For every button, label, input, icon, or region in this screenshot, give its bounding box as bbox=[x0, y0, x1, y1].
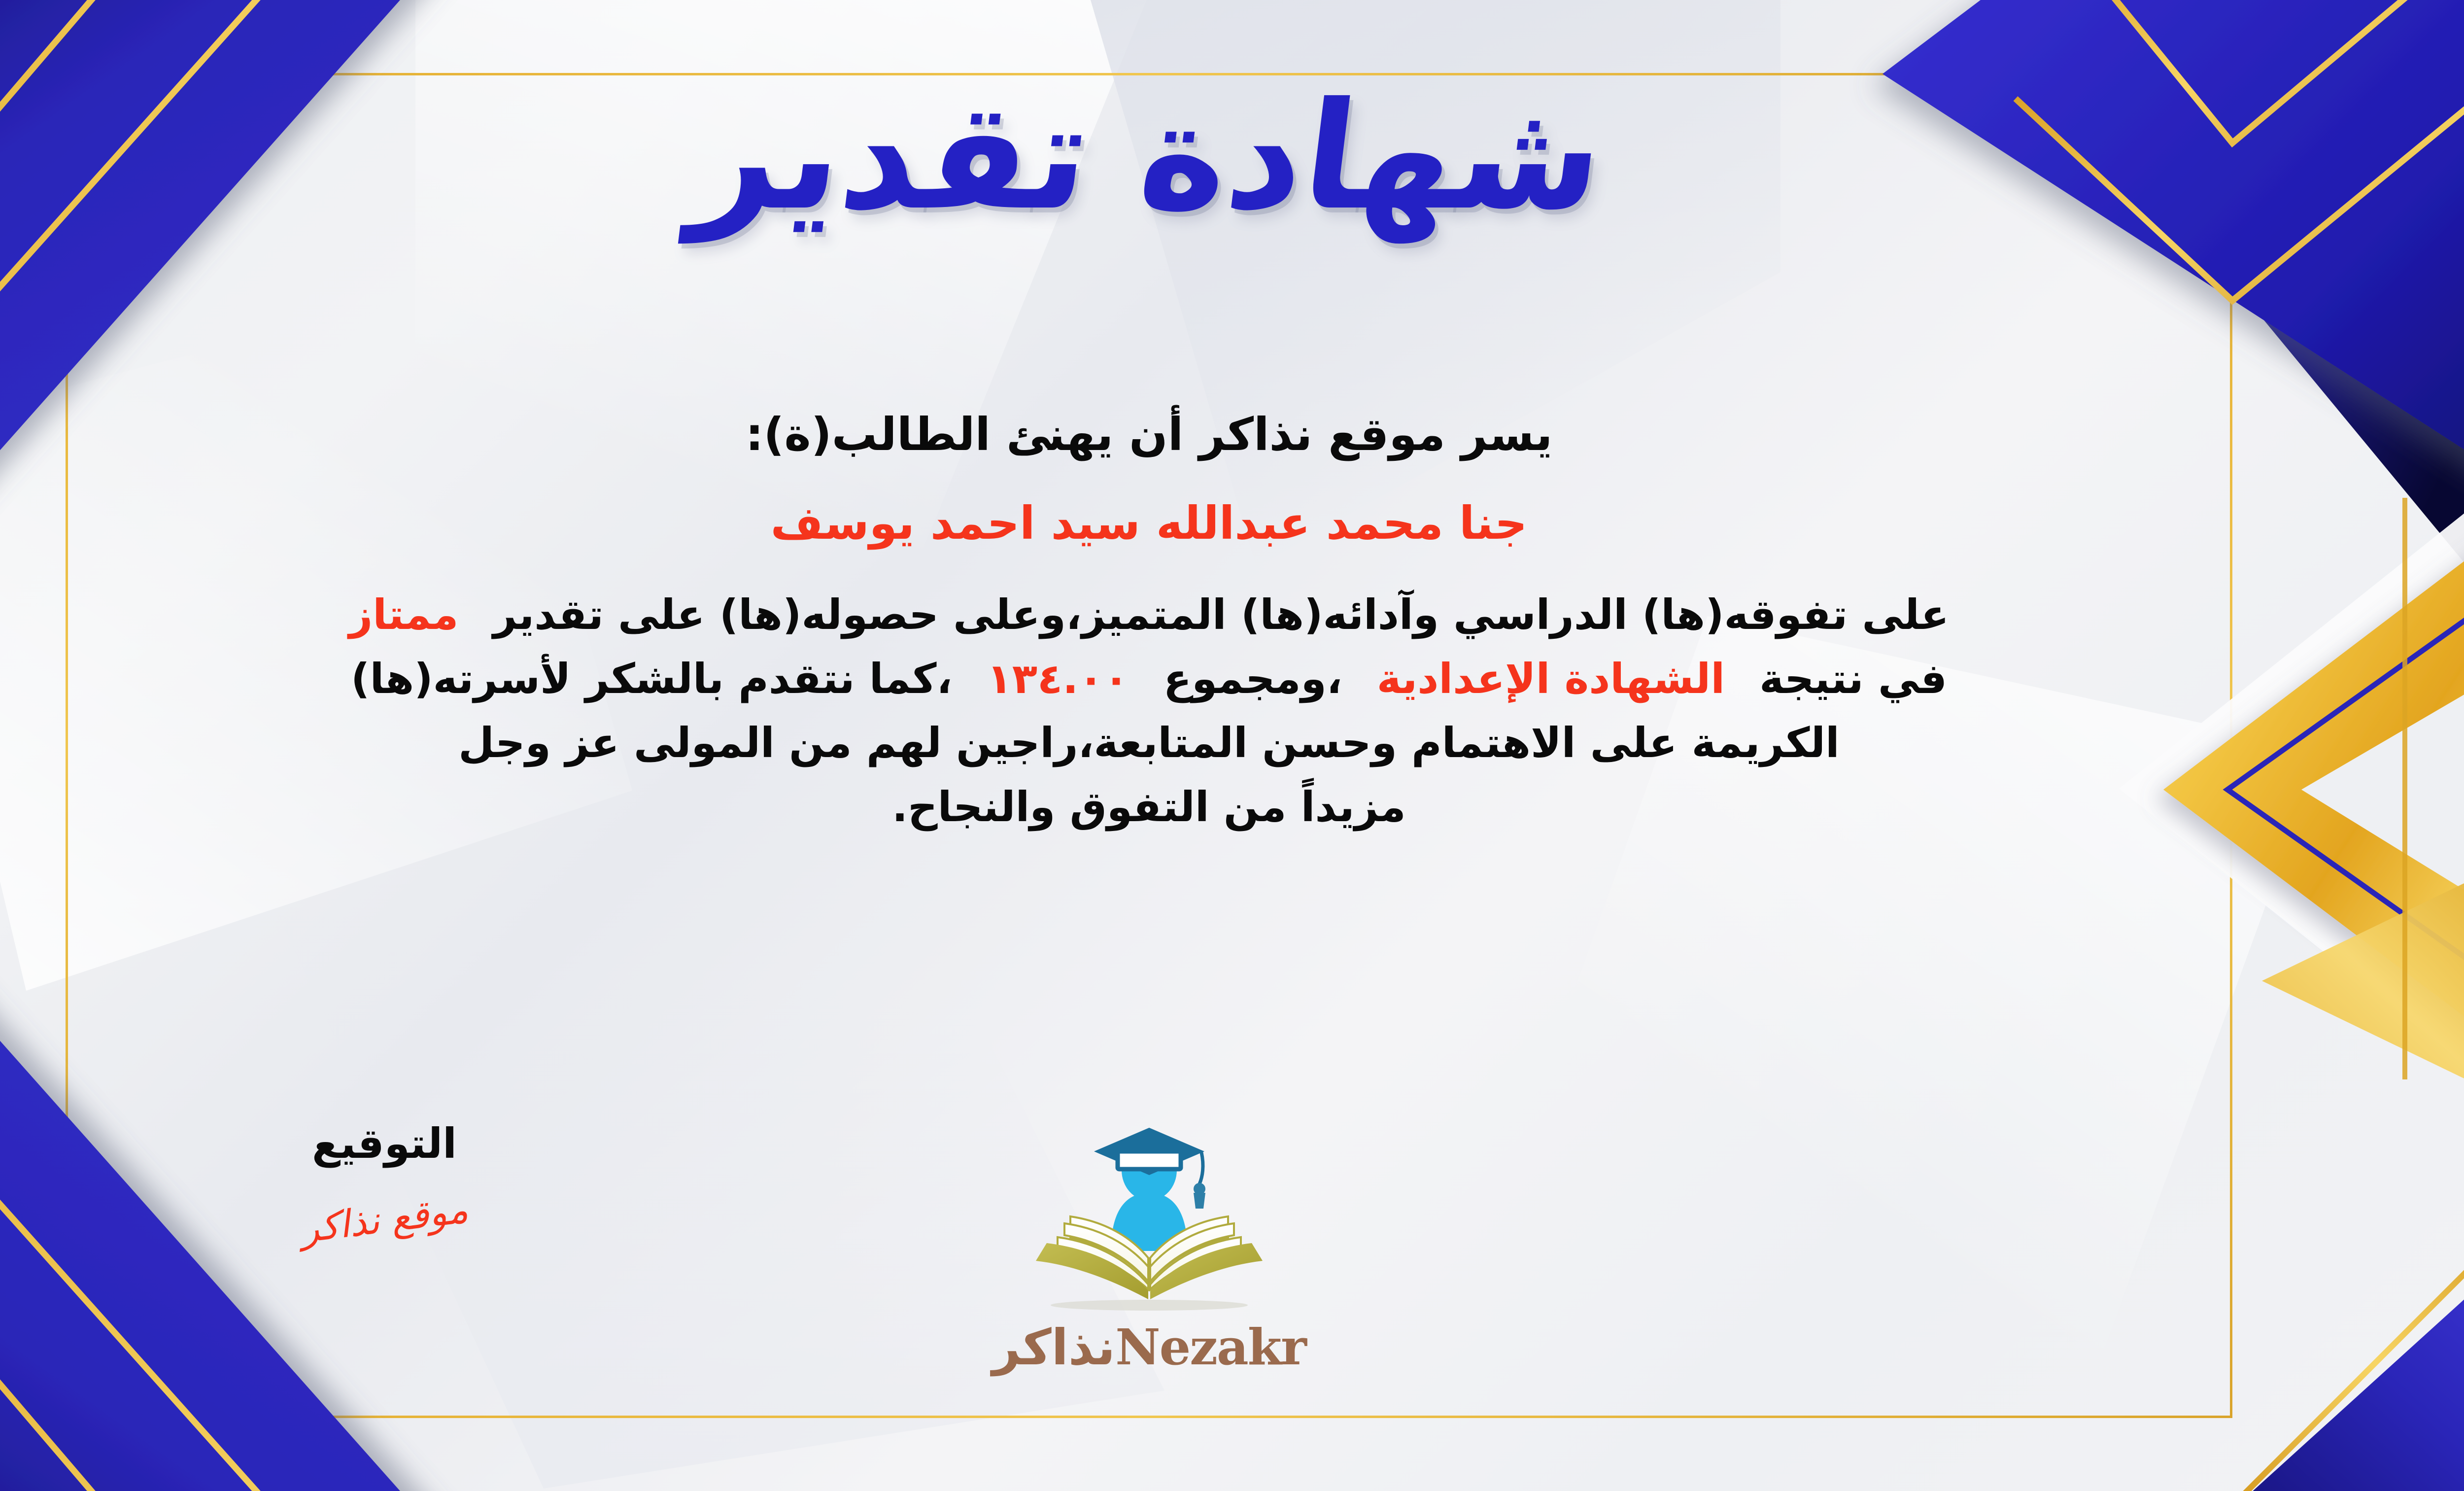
certificate-title: شهادة تقدير bbox=[685, 79, 1612, 234]
brand-logo: Nezakrنذاكر bbox=[0, 1119, 2464, 1376]
thanks-text: ،كما نتقدم بالشكر لأسرته(ها) bbox=[351, 655, 952, 703]
brand-name-latin: Nezakr bbox=[1115, 1318, 1306, 1376]
grade-value: ممتاز bbox=[349, 590, 459, 639]
citation-line-4: مزيداً من التفوق والنجاح. bbox=[11, 775, 2287, 839]
total-score: ١٣٤.٠٠ bbox=[987, 655, 1129, 703]
certificate-body: يسر موقع نذاكر أن يهنئ الطالب(ة): جنا مح… bbox=[11, 404, 2287, 839]
citation-paragraph: على تفوقه(ها) الدراسي وآدائه(ها) المتميز… bbox=[11, 583, 2287, 839]
exam-name: الشهادة الإعدادية bbox=[1377, 655, 1725, 703]
citation-line-1: على تفوقه(ها) الدراسي وآدائه(ها) المتميز… bbox=[11, 583, 2287, 647]
citation-line-1-text: على تفوقه(ها) الدراسي وآدائه(ها) المتميز… bbox=[493, 590, 1949, 639]
total-label: ،ومجموع bbox=[1164, 655, 1342, 703]
student-name: جنا محمد عبدالله سيد احمد يوسف bbox=[11, 494, 2287, 553]
brand-name-arabic: نذاكر bbox=[992, 1318, 1115, 1376]
citation-line-2: في نتيجةالشهادة الإعدادية،ومجموع١٣٤.٠٠،ك… bbox=[11, 647, 2287, 711]
graduate-book-logo-icon bbox=[1021, 1119, 1277, 1316]
certificate-page: شهادة تقدير يسر موقع نذاكر أن يهنئ الطال… bbox=[0, 0, 2464, 1491]
intro-line: يسر موقع نذاكر أن يهنئ الطالب(ة): bbox=[11, 404, 2287, 465]
certificate-content: شهادة تقدير يسر موقع نذاكر أن يهنئ الطال… bbox=[0, 0, 2464, 1491]
exam-prefix-text: في نتيجة bbox=[1759, 655, 1947, 703]
citation-line-3: الكريمة على الاهتمام وحسن المتابعة،راجين… bbox=[11, 711, 2287, 775]
brand-logo-wordmark: Nezakrنذاكر bbox=[992, 1318, 1306, 1376]
certificate-title-area: شهادة تقدير bbox=[0, 79, 2464, 234]
